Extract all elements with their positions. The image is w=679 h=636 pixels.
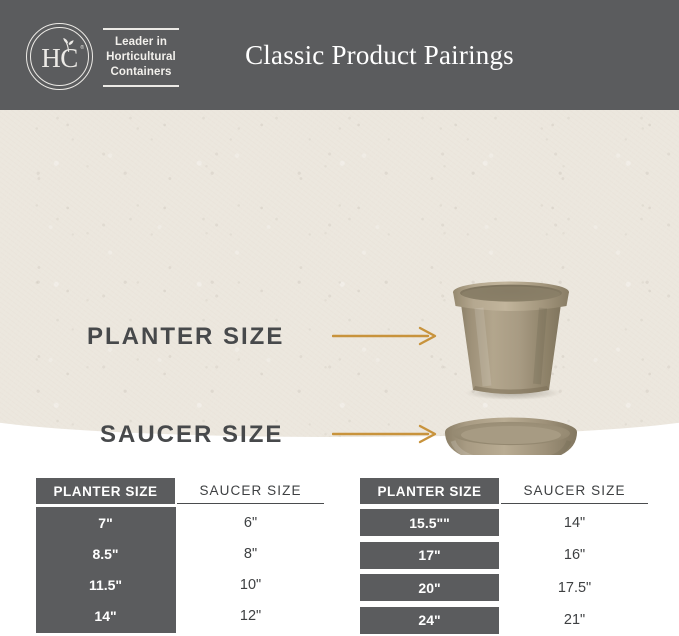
cell-saucer-size: 10" <box>177 577 324 593</box>
planter-pot-image <box>443 278 579 400</box>
table-body: 7" 6" 8.5" 8" 11.5" 10" 14" 12" <box>36 504 324 631</box>
cell-saucer-size: 17.5" <box>501 580 648 596</box>
cell-planter-size: 14" <box>36 608 175 624</box>
table-header-row: PLANTER SIZE SAUCER SIZE <box>360 478 648 504</box>
arrow-right-icon-planter <box>332 325 442 347</box>
page-title: Classic Product Pairings <box>0 0 679 110</box>
column-header-saucer-size: SAUCER SIZE <box>501 478 648 504</box>
table-row: 11.5" 10" <box>36 569 324 600</box>
cell-planter-size: 24" <box>360 607 499 634</box>
cell-planter-size: 20" <box>360 574 499 601</box>
cell-planter-size: 17" <box>360 542 499 569</box>
cell-saucer-size: 12" <box>177 608 324 624</box>
size-tables: PLANTER SIZE SAUCER SIZE 7" 6" 8.5" 8" 1… <box>0 478 679 636</box>
cell-saucer-size: 6" <box>177 515 324 531</box>
hero-section: PLANTER SIZE SAUCER SIZE <box>0 110 679 455</box>
column-header-saucer-size: SAUCER SIZE <box>177 478 324 504</box>
table-row: 15.5"" 14" <box>360 507 648 538</box>
cell-planter-size: 15.5"" <box>360 509 499 536</box>
table-row: 20" 17.5" <box>360 572 648 603</box>
cell-saucer-size: 14" <box>501 515 648 531</box>
cell-planter-size: 11.5" <box>36 577 175 593</box>
saucer-dish-image <box>437 415 585 455</box>
hero-label-saucer-size: SAUCER SIZE <box>100 421 283 449</box>
table-row: 24" 21" <box>360 605 648 636</box>
table-row: 7" 6" <box>36 507 324 538</box>
cell-saucer-size: 8" <box>177 546 324 562</box>
hero-label-planter-size: PLANTER SIZE <box>87 323 284 351</box>
table-header-row: PLANTER SIZE SAUCER SIZE <box>36 478 324 504</box>
table-body: 15.5"" 14" 17" 16" 20" 17.5" 24" 21" <box>360 504 648 636</box>
arrow-right-icon-saucer <box>332 423 442 445</box>
header-bar: HC ® Leader in Horticultural Containers … <box>0 0 679 110</box>
size-table-small: PLANTER SIZE SAUCER SIZE 7" 6" 8.5" 8" 1… <box>36 478 324 636</box>
cell-planter-size: 8.5" <box>36 546 175 562</box>
cell-saucer-size: 21" <box>501 612 648 628</box>
column-header-planter-size: PLANTER SIZE <box>36 478 175 504</box>
table-row: 8.5" 8" <box>36 538 324 569</box>
size-table-large: PLANTER SIZE SAUCER SIZE 15.5"" 14" 17" … <box>360 478 648 636</box>
cell-saucer-size: 16" <box>501 547 648 563</box>
table-row: 17" 16" <box>360 540 648 571</box>
column-header-planter-size: PLANTER SIZE <box>360 478 499 504</box>
infographic-page: HC ® Leader in Horticultural Containers … <box>0 0 679 636</box>
cell-planter-size: 7" <box>36 515 175 531</box>
table-row: 14" 12" <box>36 600 324 631</box>
